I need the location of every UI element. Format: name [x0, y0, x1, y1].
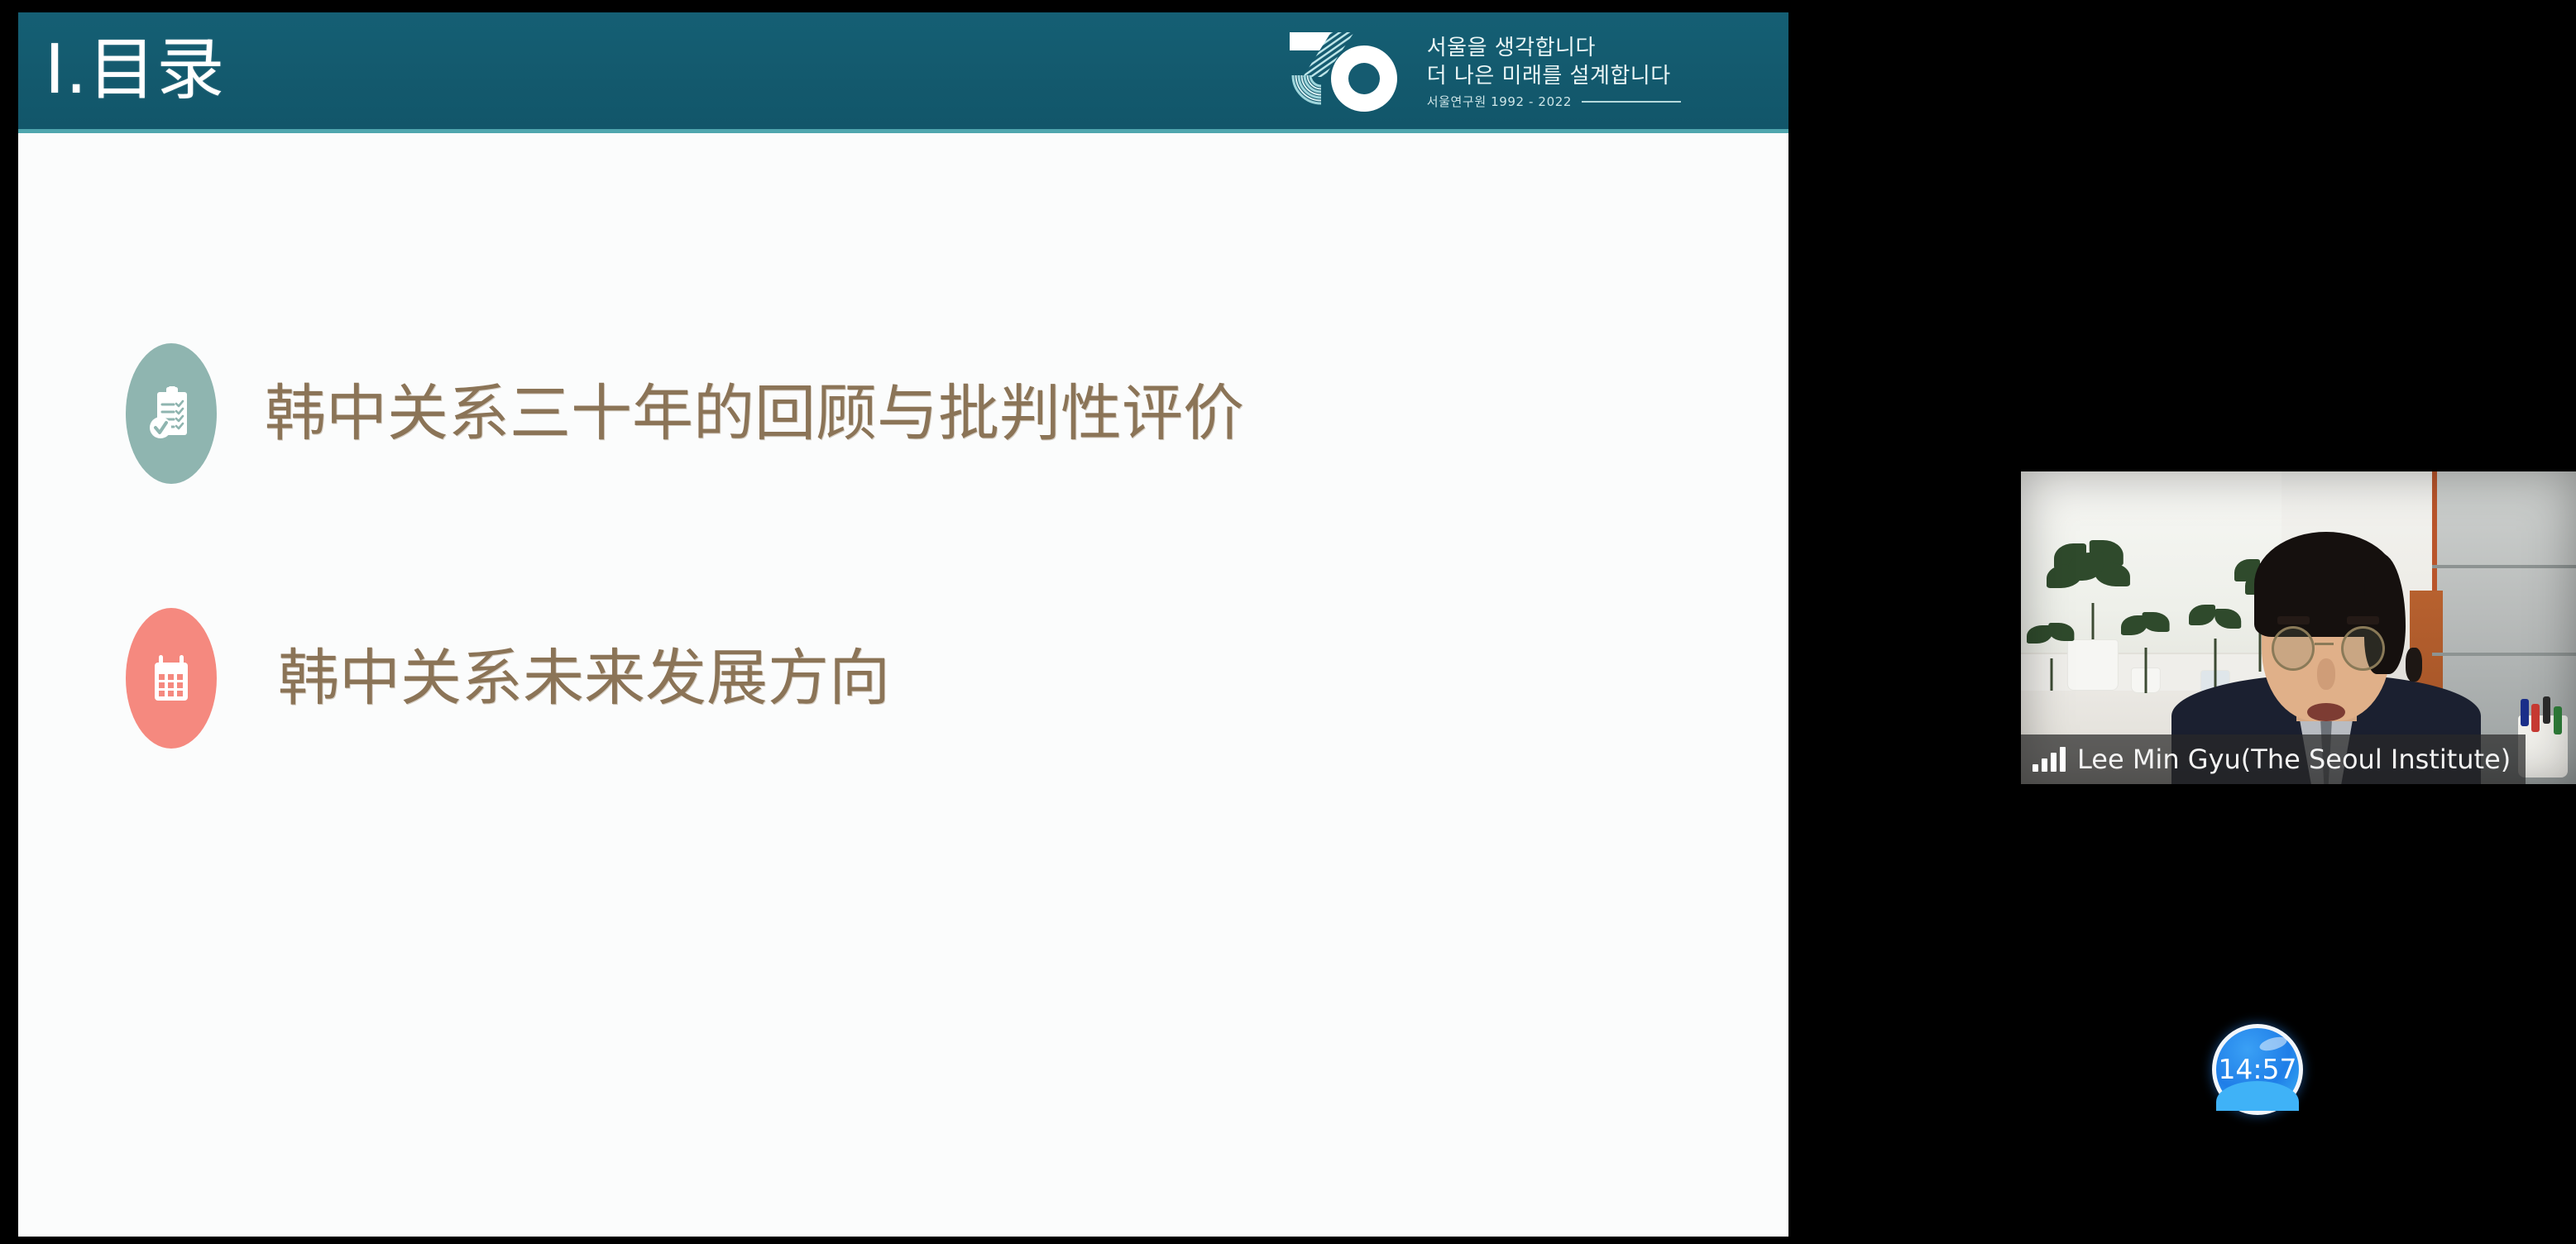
agenda-list: 韩中关系三十年的回顾与批判性评价: [18, 12, 1788, 1237]
agenda-item-1: 韩中关系三十年的回顾与批判性评价: [126, 343, 1244, 484]
meeting-screen-share-window: I.目录: [0, 0, 2576, 1244]
participant-name-bar: Lee Min Gyu(The Seoul Institute): [2021, 734, 2526, 784]
presentation-slide[interactable]: I.目录: [18, 12, 1788, 1237]
participant-video-tile[interactable]: Lee Min Gyu(The Seoul Institute): [2021, 471, 2576, 784]
timer-gloss-decoration: [2258, 1035, 2289, 1054]
agenda-item-2: 韩中关系未来发展方向: [126, 608, 890, 749]
clipboard-checklist-icon: [126, 343, 217, 484]
calendar-icon: [126, 608, 217, 749]
agenda-item-2-label: 韩中关系未来发展方向: [278, 641, 890, 715]
audio-level-bars-icon: [2033, 747, 2066, 772]
participant-name-label: Lee Min Gyu(The Seoul Institute): [2077, 744, 2511, 775]
timer-value: 14:57: [2218, 1055, 2296, 1084]
timer-wave-decoration: [2216, 1081, 2299, 1111]
agenda-item-1-label: 韩中关系三十年的回顾与批判性评价: [265, 376, 1244, 451]
meeting-timer-badge[interactable]: 14:57: [2212, 1024, 2303, 1115]
